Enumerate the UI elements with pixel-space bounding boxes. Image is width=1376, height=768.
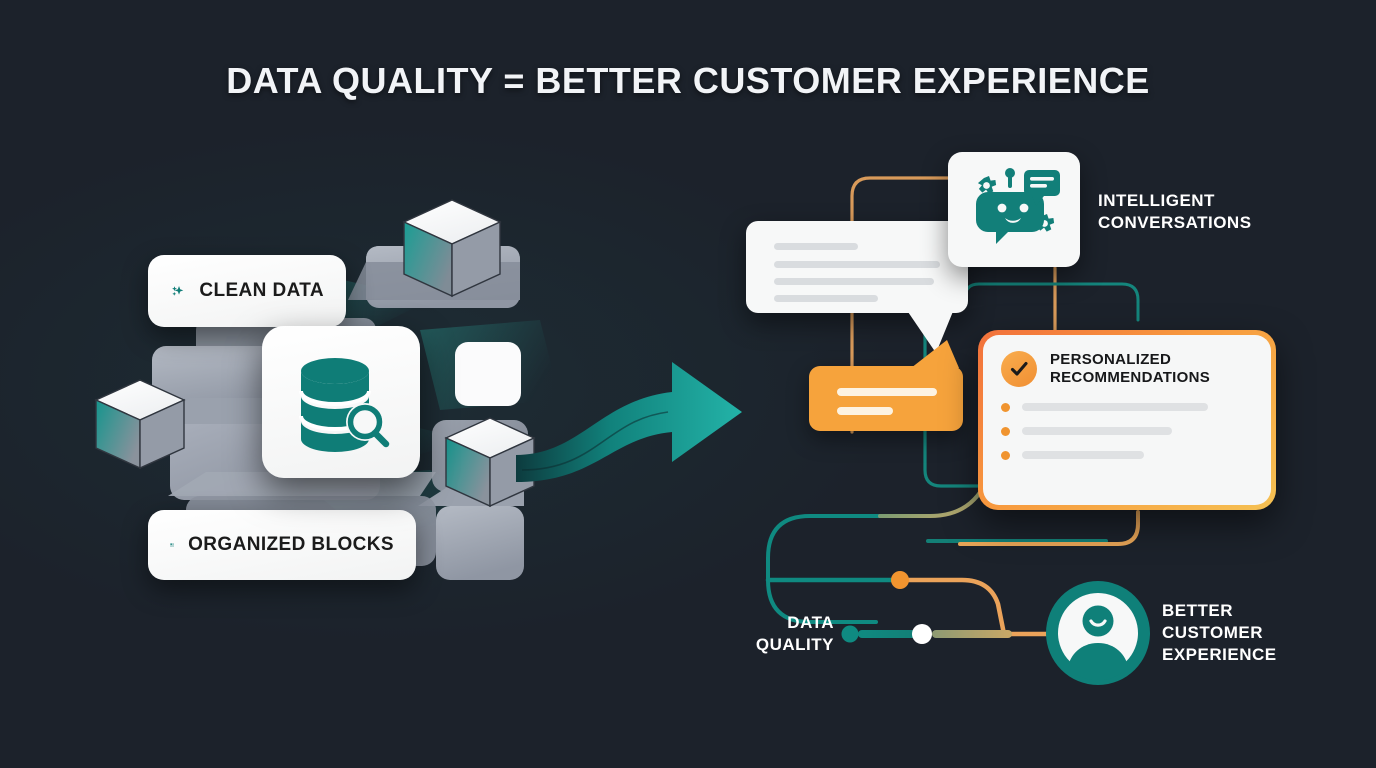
track-node-white xyxy=(912,624,932,644)
chat-line xyxy=(774,278,934,285)
recommendation-bar xyxy=(1022,403,1208,411)
clean-data-label: CLEAN DATA xyxy=(199,280,324,302)
track-node-orange xyxy=(891,571,909,589)
orange-chat-bubble xyxy=(809,366,963,431)
chat-line xyxy=(774,295,878,302)
intelligent-conversations-line1: INTELLIGENT xyxy=(1098,190,1252,212)
chat-line xyxy=(774,243,858,250)
recommendations-title-line1: PERSONALIZED xyxy=(1050,351,1210,369)
recommendations-title: PERSONALIZED RECOMMENDATIONS xyxy=(1050,351,1210,388)
orange-bubble-tail xyxy=(907,340,963,370)
recommendation-row[interactable] xyxy=(1001,427,1253,436)
database-card[interactable] xyxy=(262,326,420,478)
bullet-dot-icon xyxy=(1001,427,1010,436)
recommendations-title-line2: RECOMMENDATIONS xyxy=(1050,369,1210,387)
data-quality-line1: DATA xyxy=(690,612,834,634)
recommendation-bar xyxy=(1022,427,1172,435)
better-customer-experience-label: BETTER CUSTOMER EXPERIENCE xyxy=(1162,600,1277,665)
database-search-icon xyxy=(288,349,394,455)
orange-chat-line xyxy=(837,388,937,396)
clean-data-card[interactable]: CLEAN DATA xyxy=(148,255,346,327)
track-node-teal xyxy=(842,626,859,643)
bullet-dot-icon xyxy=(1001,451,1010,460)
chat-bubble xyxy=(746,221,968,313)
user-avatar-icon xyxy=(1046,581,1150,685)
chat-line xyxy=(774,261,940,268)
organized-blocks-card[interactable]: ORGANIZED BLOCKS xyxy=(148,510,416,580)
recommendation-bar xyxy=(1022,451,1144,459)
intelligent-conversations-label: INTELLIGENT CONVERSATIONS xyxy=(1098,190,1252,234)
recommendations-header: PERSONALIZED RECOMMENDATIONS xyxy=(1001,351,1253,388)
recommendation-row[interactable] xyxy=(1001,451,1253,460)
data-quality-line2: QUALITY xyxy=(690,634,834,656)
sparkles-icon xyxy=(170,274,185,308)
intelligent-conversations-line2: CONVERSATIONS xyxy=(1098,212,1252,234)
bce-line1: BETTER xyxy=(1162,600,1277,622)
personalized-recommendations-card[interactable]: PERSONALIZED RECOMMENDATIONS xyxy=(978,330,1276,510)
data-quality-track-label: DATA QUALITY xyxy=(690,612,834,656)
grid-blocks-icon xyxy=(170,528,174,562)
orange-chat-line xyxy=(837,407,893,415)
check-circle-icon xyxy=(1001,351,1037,387)
chatbot-icon xyxy=(962,164,1066,256)
bce-line2: CUSTOMER xyxy=(1162,622,1277,644)
infographic-canvas: DATA QUALITY = BETTER CUSTOMER EXPERIENC… xyxy=(0,0,1376,768)
bullet-dot-icon xyxy=(1001,403,1010,412)
chatbot-card[interactable] xyxy=(948,152,1080,267)
bce-line3: EXPERIENCE xyxy=(1162,644,1277,666)
organized-blocks-label: ORGANIZED BLOCKS xyxy=(188,534,394,556)
recommendation-row[interactable] xyxy=(1001,403,1253,412)
